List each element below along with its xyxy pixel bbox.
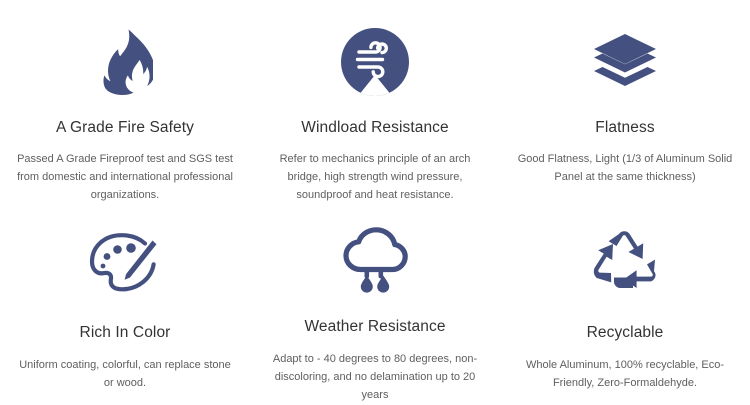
feature-description: Whole Aluminum, 100% recyclable, Eco-Fri… [514, 357, 736, 393]
feature-card-recyclable: Recyclable Whole Aluminum, 100% recyclab… [500, 215, 750, 400]
feature-description: Adapt to - 40 degrees to 80 degrees, non… [264, 351, 486, 404]
feature-card-windload-resistance: Windload Resistance Refer to mechanics p… [250, 0, 500, 215]
feature-title: Rich In Color [80, 323, 171, 343]
feature-card-flatness: Flatness Good Flatness, Light (1/3 of Al… [500, 0, 750, 215]
feature-description: Passed A Grade Fireproof test and SGS te… [14, 151, 236, 204]
feature-card-rich-in-color: Rich In Color Uniform coating, colorful,… [0, 215, 250, 400]
feature-title: Recyclable [587, 323, 664, 343]
feature-card-weather-resistance: Weather Resistance Adapt to - 40 degrees… [250, 215, 500, 400]
features-grid: A Grade Fire Safety Passed A Grade Firep… [0, 0, 750, 400]
feature-title: Windload Resistance [301, 118, 449, 138]
flame-icon [97, 26, 153, 98]
feature-title: Weather Resistance [304, 317, 445, 337]
rain-cloud-icon [340, 227, 410, 293]
layers-icon [594, 26, 656, 98]
feature-description: Good Flatness, Light (1/3 of Aluminum So… [514, 151, 736, 187]
wind-circle-icon [341, 26, 409, 98]
feature-title: A Grade Fire Safety [56, 118, 194, 138]
feature-description: Refer to mechanics principle of an arch … [264, 151, 486, 204]
palette-icon [89, 227, 161, 299]
feature-title: Flatness [595, 118, 654, 138]
feature-description: Uniform coating, colorful, can replace s… [14, 357, 236, 393]
recycle-icon [590, 227, 660, 299]
feature-card-fire-safety: A Grade Fire Safety Passed A Grade Firep… [0, 0, 250, 215]
